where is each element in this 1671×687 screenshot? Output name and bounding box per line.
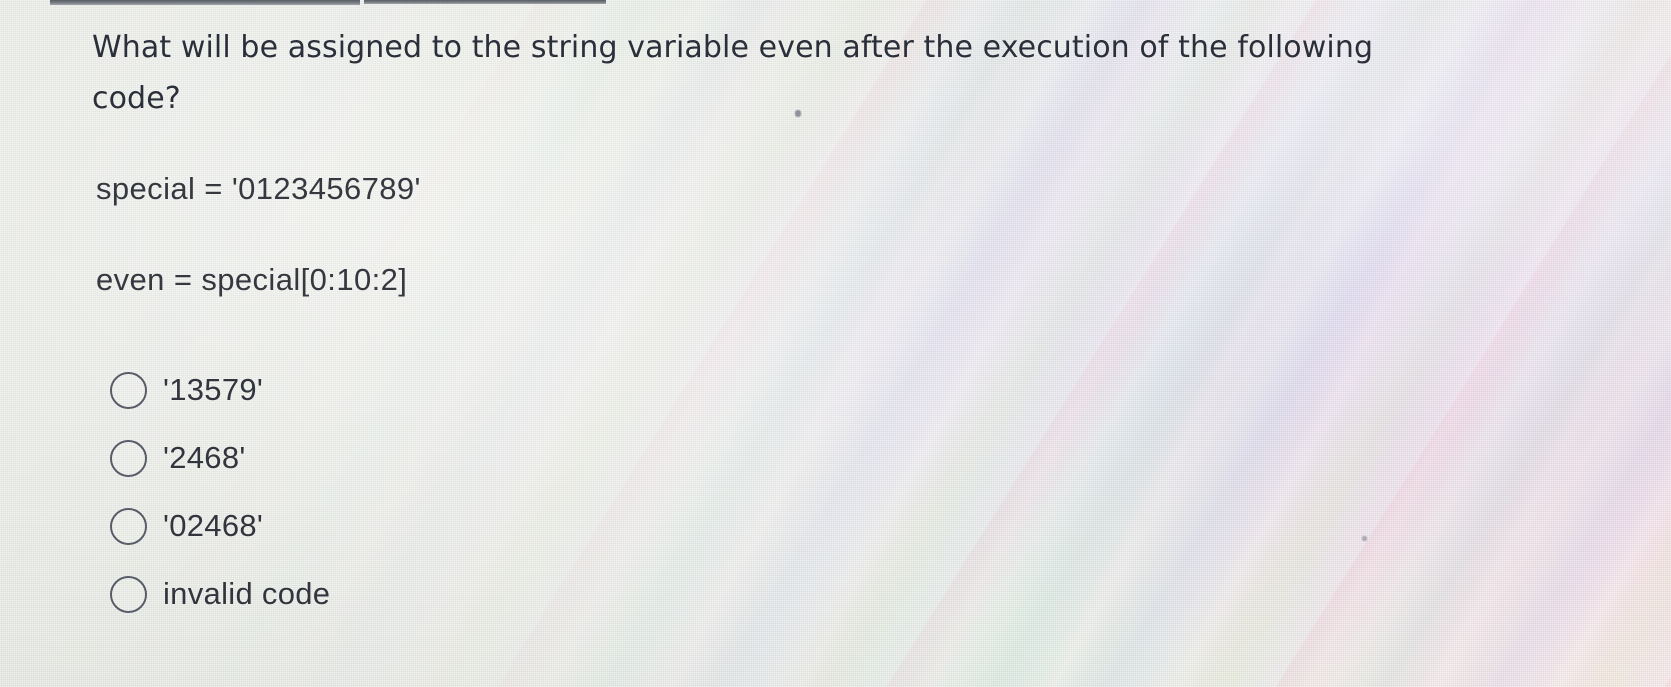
- answer-option-3[interactable]: '02468': [110, 492, 810, 560]
- answer-option-3-label: '02468': [163, 508, 263, 544]
- code-line-even-assignment: even = special[0:10:2]: [96, 261, 896, 299]
- answer-option-4-label: invalid code: [163, 576, 330, 612]
- question-content: What will be assigned to the string vari…: [0, 0, 1671, 687]
- question-line-2: code?: [92, 73, 1492, 124]
- answer-option-1[interactable]: '13579': [110, 356, 810, 424]
- answer-option-4[interactable]: invalid code: [110, 560, 810, 628]
- code-line-special-assignment: special = '0123456789': [96, 170, 896, 208]
- radio-unselected-icon[interactable]: [110, 440, 147, 477]
- answer-option-1-label: '13579': [163, 372, 263, 408]
- question-line-1: What will be assigned to the string vari…: [92, 22, 1492, 73]
- radio-unselected-icon[interactable]: [110, 576, 147, 613]
- answer-options-list: '13579' '2468' '02468' invalid code: [110, 356, 810, 628]
- radio-unselected-icon[interactable]: [110, 508, 147, 545]
- answer-option-2-label: '2468': [163, 440, 246, 476]
- code-snippet: special = '0123456789' even = special[0:…: [96, 170, 896, 299]
- question-prompt: What will be assigned to the string vari…: [92, 22, 1492, 124]
- radio-unselected-icon[interactable]: [110, 372, 147, 409]
- answer-option-2[interactable]: '2468': [110, 424, 810, 492]
